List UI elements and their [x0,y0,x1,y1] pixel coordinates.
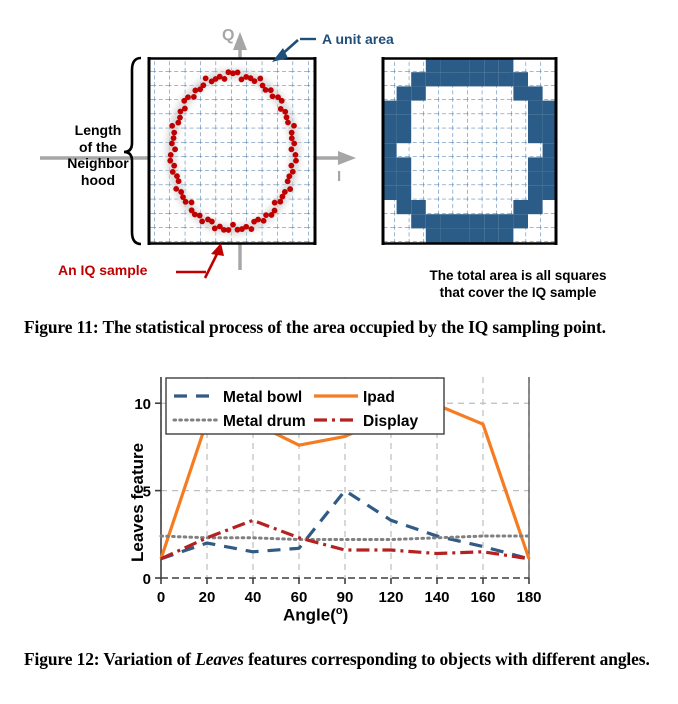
iq-sample-dot [185,94,191,100]
iq-sample-dot [170,169,176,175]
chart-x-axis-label: Angle(o) [283,605,348,626]
covered-square [397,200,412,214]
covered-square [440,72,455,86]
caption-figure-12-italic: Leaves [195,649,244,669]
caption-figure-12-line2: objects with different angles. [440,649,650,669]
chart-legend-label: Metal drum [223,413,306,430]
iq-sample-dot [282,109,288,115]
iq-sample-dot [288,163,294,169]
covered-square [426,214,441,228]
iq-sample-dot [178,189,184,195]
iq-sample-dot [171,130,177,136]
iq-sample-dot [212,226,218,232]
covered-square [484,72,499,86]
iq-sample-dot [269,212,275,218]
iq-sample-dot [230,222,236,228]
iq-sample-dot [293,152,299,158]
covered-square [513,200,528,214]
iq-sample-dot [288,146,294,152]
iq-sample-dot [176,178,182,184]
covered-square [455,72,470,86]
covered-square [440,214,455,228]
covered-square [528,101,543,115]
iq-sample-dot [168,152,174,158]
iq-sample-dot [289,130,295,136]
iq-sample-dot [191,94,197,100]
iq-sample-dot [171,135,177,141]
iq-sample-dot [263,87,269,93]
iq-sample-dot [203,75,209,81]
iq-sample-dot [169,123,175,129]
iq-sample-dot [272,200,278,206]
covered-square [528,157,543,171]
chart-legend-label: Display [363,413,419,430]
label-iq-sample: An IQ sample [58,262,147,279]
chart-graphic: 0510020406090120140160180Metal bowlIpadM… [0,372,678,640]
covered-square [397,101,412,115]
iq-sample-dot [189,207,195,213]
covered-square [470,214,485,228]
covered-square [513,214,528,228]
iq-sample-dot [235,227,241,233]
chart-x-tick-label: 140 [424,589,449,606]
covered-square [528,186,543,200]
covered-square [411,86,426,100]
figure-11-diagram: Length of the Neighbor hood A unit area … [0,0,678,308]
iq-sample-dot [277,199,283,205]
covered-square [499,214,514,228]
covered-square [499,72,514,86]
covered-square [499,228,514,242]
iq-sample-dot [189,200,195,206]
covered-square [484,214,499,228]
iq-sample-dot [182,106,188,112]
iq-sample-dot [251,219,257,225]
chart-x-tick-label: 160 [470,589,495,606]
iq-sample-dot [291,123,297,129]
iq-sample-dot [284,114,290,120]
iq-sample-dot [285,120,291,126]
figure-12-chart: 0510020406090120140160180Metal bowlIpadM… [0,372,678,640]
iq-sample-dot [291,141,297,147]
covered-square [440,228,455,242]
covered-square [528,86,543,100]
label-total-area: The total area is all squares that cover… [383,268,653,302]
label-q-axis: Q [222,27,234,46]
iq-sample-dot [286,173,292,179]
covered-square [470,58,485,72]
caption-figure-11-line1: Figure 11: The statistical process of th… [24,317,437,337]
iq-sample-dot [263,212,269,218]
iq-sample-dot [174,173,180,179]
covered-square [397,115,412,129]
chart-x-tick-label: 60 [291,589,308,606]
iq-sample-dot [287,186,293,192]
chart-y-tick-label: 10 [134,396,151,413]
covered-square [411,200,426,214]
iq-sample-dot [205,217,211,223]
iq-sample-dot [180,194,186,200]
label-neighborhood: Length of the Neighbor hood [50,122,146,188]
covered-square [528,172,543,186]
covered-square [484,228,499,242]
iq-sample-dot [200,82,206,88]
caption-figure-11-line2: the IQ sampling point. [441,317,606,337]
covered-square [528,200,543,214]
iq-sample-dot [257,76,263,82]
iq-sample-dot [167,158,173,164]
iq-sample-dot [225,69,231,75]
chart-x-tick-label: 0 [157,589,165,606]
chart-x-tick-label: 90 [337,589,354,606]
iq-sample-dot [280,194,286,200]
chart-y-tick-label: 0 [143,571,151,588]
chart-x-tick-label: 20 [199,589,216,606]
covered-square [528,115,543,129]
covered-square [513,72,528,86]
covered-square [397,186,412,200]
iq-sample-dot [192,88,198,94]
iq-sample-dot [270,93,276,99]
chart-x-tick-label: 120 [378,589,403,606]
covered-square [411,72,426,86]
iq-sample-dot [217,224,223,230]
caption-figure-12-prefix: Figure 12: Variation of [24,649,195,669]
covered-square [513,86,528,100]
covered-square [426,228,441,242]
iq-sample-dot [248,226,254,232]
iq-sample-dot [285,178,291,184]
covered-square [484,58,499,72]
covered-square [470,228,485,242]
iq-sample-dot [172,146,178,152]
covered-square [455,228,470,242]
iq-sample-dot [197,213,203,219]
iq-sample-dot [171,163,177,169]
label-unit-area: A unit area [322,31,394,48]
caption-figure-11: Figure 11: The statistical process of th… [24,316,660,339]
covered-square [470,72,485,86]
chart-y-axis-label: Leaves feature [128,443,148,562]
iq-sample-dot [222,76,228,82]
covered-square [426,58,441,72]
covered-square [411,214,426,228]
iq-sample-dot [175,120,181,126]
covered-square [426,72,441,86]
iq-sample-dot [199,219,205,225]
iq-sample-arrow [176,243,224,278]
right-panel-group [382,57,557,245]
covered-square [440,58,455,72]
iq-sample-dot [177,115,183,121]
iq-sample-dot [235,70,241,76]
covered-square [455,58,470,72]
chart-legend-label: Ipad [363,389,395,406]
iq-sample-dot [261,218,267,224]
covered-square [455,214,470,228]
covered-square [397,157,412,171]
covered-square [499,58,514,72]
iq-sample-dot [268,87,274,93]
chart-x-tick-label: 180 [516,589,541,606]
iq-sample-dot [169,141,175,147]
chart-x-tick-label: 40 [245,589,262,606]
iq-sample-dot [252,78,258,84]
covered-square [528,129,543,143]
covered-square [397,86,412,100]
label-i-axis: I [337,168,341,186]
iq-sample-dot [173,186,179,192]
covered-square [397,172,412,186]
iq-sample-dot [293,158,299,164]
chart-legend-label: Metal bowl [223,389,302,406]
iq-sample-dot [289,135,295,141]
caption-figure-12: Figure 12: Variation of Leaves features … [24,648,660,671]
iq-sample-dot [279,98,285,104]
caption-figure-12-suffix: features corresponding to [244,649,435,669]
covered-square [397,129,412,143]
